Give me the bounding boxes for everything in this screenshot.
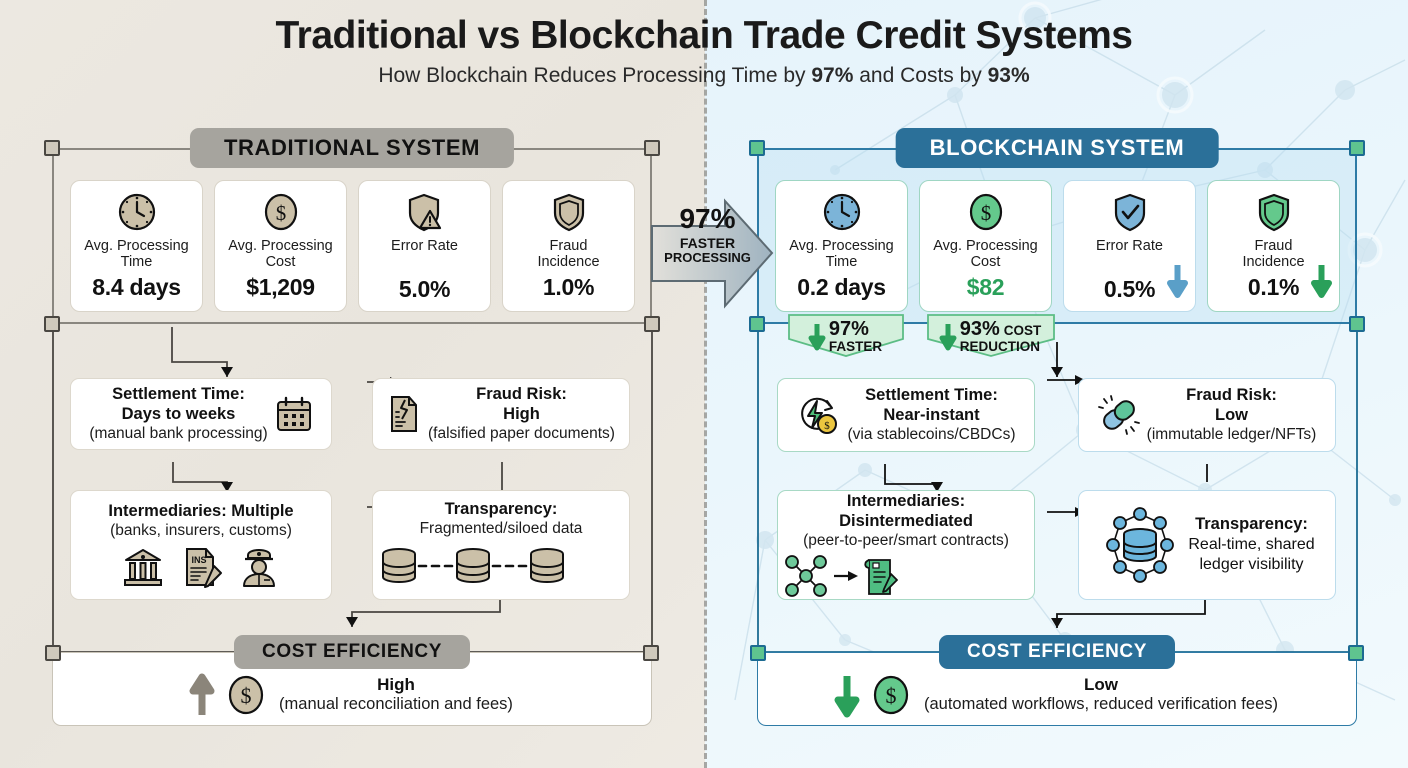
dollar-coin-icon: $ (965, 190, 1007, 234)
card-label-line2: Cost (933, 254, 1038, 270)
card-label-line1: Avg. Processing (789, 238, 894, 254)
flow-subtitle: Low (1147, 406, 1317, 426)
metric-card-error-rate[interactable]: Error Rate 0.5% (1063, 180, 1196, 312)
flow-box-transparency[interactable]: Transparency: Fragmented/siloed data (372, 490, 630, 600)
card-label-line1: Avg. Processing (933, 238, 1038, 254)
card-label-line2: Incidence (537, 254, 599, 270)
card-label-line2: Incidence (1242, 254, 1304, 270)
card-label-line1: Fraud (1242, 238, 1304, 254)
card-label-line1: Avg. Processing (228, 238, 333, 254)
blockchain-metric-cards: Avg. Processing Time 0.2 days $ Avg. Pro… (775, 180, 1340, 312)
flow-title: Intermediaries: Multiple (71, 502, 331, 522)
flow-title: Transparency: (1188, 515, 1314, 535)
cost-value: High (279, 675, 513, 695)
cost-efficiency-label: COST EFFICIENCY (939, 635, 1175, 669)
subtitle-pct-cost: 93% (988, 64, 1030, 87)
metric-card-processing-time[interactable]: Avg. Processing Time 0.2 days (775, 180, 908, 312)
svg-text:$: $ (886, 683, 897, 708)
flow-note: (immutable ledger/NFTs) (1147, 426, 1317, 445)
card-value: 8.4 days (92, 274, 180, 301)
down-arrow-icon (941, 324, 955, 350)
shield-check-icon (1110, 190, 1150, 234)
card-label-line2: Time (789, 254, 894, 270)
card-value: $1,209 (246, 274, 315, 301)
header: Traditional vs Blockchain Trade Credit S… (0, 14, 1408, 88)
cost-handle-left[interactable] (45, 645, 61, 661)
badge-cost-reduction: 93% COST REDUCTION (926, 313, 1056, 358)
metric-card-processing-cost[interactable]: $ Avg. Processing Cost $82 (919, 180, 1052, 312)
card-label-line1: Avg. Processing (84, 238, 189, 254)
panel-handle-bottom-left[interactable] (44, 316, 60, 332)
card-label-line1: Error Rate (1096, 238, 1163, 254)
instant-settlement-icon: $ (797, 394, 841, 436)
panel-handle-top-right[interactable] (1349, 140, 1365, 156)
subtitle-part-2: and Costs by (853, 64, 987, 87)
panel-handle-bottom-left[interactable] (749, 316, 765, 332)
flow-subtitle: Near-instant (848, 406, 1016, 426)
down-arrow-icon (810, 324, 824, 350)
card-label-line1: Error Rate (391, 238, 458, 254)
down-arrow-blue-icon (1169, 265, 1186, 297)
metric-card-fraud-incidence[interactable]: Fraud Incidence 0.1% (1207, 180, 1340, 312)
cost-handle-right[interactable] (643, 645, 659, 661)
badge-faster: 97% FASTER (787, 313, 905, 358)
metric-card-fraud-incidence[interactable]: Fraud Incidence 1.0% (502, 180, 635, 312)
cost-handle-right[interactable] (1348, 645, 1364, 661)
chain-link-icon (1098, 394, 1140, 436)
flow-box-intermediaries[interactable]: Intermediaries: Multiple (banks, insurer… (70, 490, 332, 600)
customs-officer-icon (238, 546, 280, 588)
badge-text: FASTER (829, 340, 882, 354)
cost-efficiency-label: COST EFFICIENCY (234, 635, 470, 669)
siloed-databases-icon (373, 544, 629, 590)
clock-icon (821, 190, 863, 234)
traditional-metric-cards: Avg. Processing Time 8.4 days $ Avg. Pro… (70, 180, 635, 312)
subtitle-part-1: How Blockchain Reduces Processing Time b… (378, 64, 811, 87)
card-value: 5.0% (399, 276, 450, 303)
flow-title: Settlement Time: (848, 386, 1016, 406)
metric-card-processing-cost[interactable]: $ Avg. Processing Cost $1,209 (214, 180, 347, 312)
flow-subtitle: Fragmented/siloed data (373, 520, 629, 539)
metric-card-error-rate[interactable]: Error Rate 5.0% (358, 180, 491, 312)
flow-title: Settlement Time: (89, 385, 267, 405)
cost-handle-left[interactable] (750, 645, 766, 661)
calendar-icon (275, 395, 313, 433)
badge-text: COST (1004, 324, 1042, 338)
dollar-coin-icon: $ (225, 673, 267, 717)
flow-title: Fraud Risk: (1147, 386, 1317, 406)
bank-icon (122, 546, 164, 588)
svg-text:$: $ (275, 201, 286, 225)
panel-handle-bottom-right[interactable] (644, 316, 660, 332)
panel-handle-top-left[interactable] (44, 140, 60, 156)
panel-handle-top-left[interactable] (749, 140, 765, 156)
flow-subtitle: (banks, insurers, customs) (71, 522, 331, 541)
card-value: 0.1% (1248, 274, 1299, 301)
badge-percent: 97% (829, 319, 869, 340)
badge-text2: REDUCTION (960, 340, 1040, 354)
shield-icon (1254, 190, 1294, 234)
shield-warning-icon (403, 190, 447, 234)
flow-subtitle: Days to weeks (89, 405, 267, 425)
flow-note: ledger visibility (1188, 555, 1314, 575)
svg-text:$: $ (824, 420, 830, 432)
flow-subtitle: Disintermediated (778, 512, 1034, 532)
flow-box-settlement-time[interactable]: $ Settlement Time: Near-instant (via sta… (777, 378, 1035, 452)
dollar-coin-icon: $ (260, 190, 302, 234)
blockchain-panel-title: BLOCKCHAIN SYSTEM (896, 128, 1219, 168)
down-arrow-icon (836, 674, 858, 716)
card-label-line1: Fraud (537, 238, 599, 254)
torn-document-icon (387, 394, 421, 434)
flow-box-transparency[interactable]: Transparency: Real-time, shared ledger v… (1078, 490, 1336, 600)
flow-box-intermediaries[interactable]: Intermediaries: Disintermediated (peer-t… (777, 490, 1035, 600)
traditional-panel-title: TRADITIONAL SYSTEM (190, 128, 514, 168)
svg-text:INS: INS (191, 555, 206, 565)
cost-note: (manual reconciliation and fees) (279, 695, 513, 715)
cost-efficiency-traditional[interactable]: $ High (manual reconciliation and fees) … (52, 652, 652, 726)
transition-arrow-icon (650, 196, 775, 311)
flow-title: Intermediaries: (778, 492, 1034, 512)
metric-card-processing-time[interactable]: Avg. Processing Time 8.4 days (70, 180, 203, 312)
card-label-line2: Cost (228, 254, 333, 270)
card-value: 1.0% (543, 274, 594, 301)
flow-title: Fraud Risk: (428, 385, 615, 405)
svg-text:$: $ (980, 201, 991, 225)
shared-ledger-icon (1099, 504, 1181, 586)
up-arrow-icon (191, 675, 213, 715)
shield-icon (549, 190, 589, 234)
flow-note: (falsified paper documents) (428, 425, 615, 444)
down-arrow-green-icon (1313, 265, 1330, 297)
flow-title: Transparency: (373, 500, 629, 520)
cost-note: (automated workflows, reduced verificati… (924, 695, 1278, 715)
card-label-line2: Time (84, 254, 189, 270)
flow-box-settlement-time[interactable]: Settlement Time: Days to weeks (manual b… (70, 378, 332, 450)
flow-subtitle: High (428, 405, 615, 425)
page-title: Traditional vs Blockchain Trade Credit S… (0, 14, 1408, 59)
flow-note: (manual bank processing) (89, 425, 267, 444)
flow-subtitle: Real-time, shared (1188, 535, 1314, 555)
card-value: 0.5% (1104, 276, 1155, 303)
center-divider (704, 0, 707, 768)
panel-handle-bottom-right[interactable] (1349, 316, 1365, 332)
cost-value: Low (924, 675, 1278, 695)
flow-note: (peer-to-peer/smart contracts) (778, 532, 1034, 551)
page-subtitle: How Blockchain Reduces Processing Time b… (0, 64, 1408, 88)
flow-note: (via stablecoins/CBDCs) (848, 426, 1016, 445)
cost-efficiency-blockchain[interactable]: $ Low (automated workflows, reduced veri… (757, 652, 1357, 726)
badge-percent: 93% (960, 319, 1000, 340)
svg-text:$: $ (241, 683, 252, 708)
flow-box-fraud-risk[interactable]: Fraud Risk: Low (immutable ledger/NFTs) (1078, 378, 1336, 452)
dollar-coin-green-icon: $ (870, 673, 912, 717)
subtitle-pct-time: 97% (811, 64, 853, 87)
panel-handle-top-right[interactable] (644, 140, 660, 156)
card-value: $82 (967, 274, 1004, 301)
card-value: 0.2 days (797, 274, 885, 301)
clock-icon (116, 190, 158, 234)
insurance-doc-icon: INS (180, 546, 222, 588)
smart-contract-icon (778, 554, 1034, 598)
flow-box-fraud-risk[interactable]: Fraud Risk: High (falsified paper docume… (372, 378, 630, 450)
